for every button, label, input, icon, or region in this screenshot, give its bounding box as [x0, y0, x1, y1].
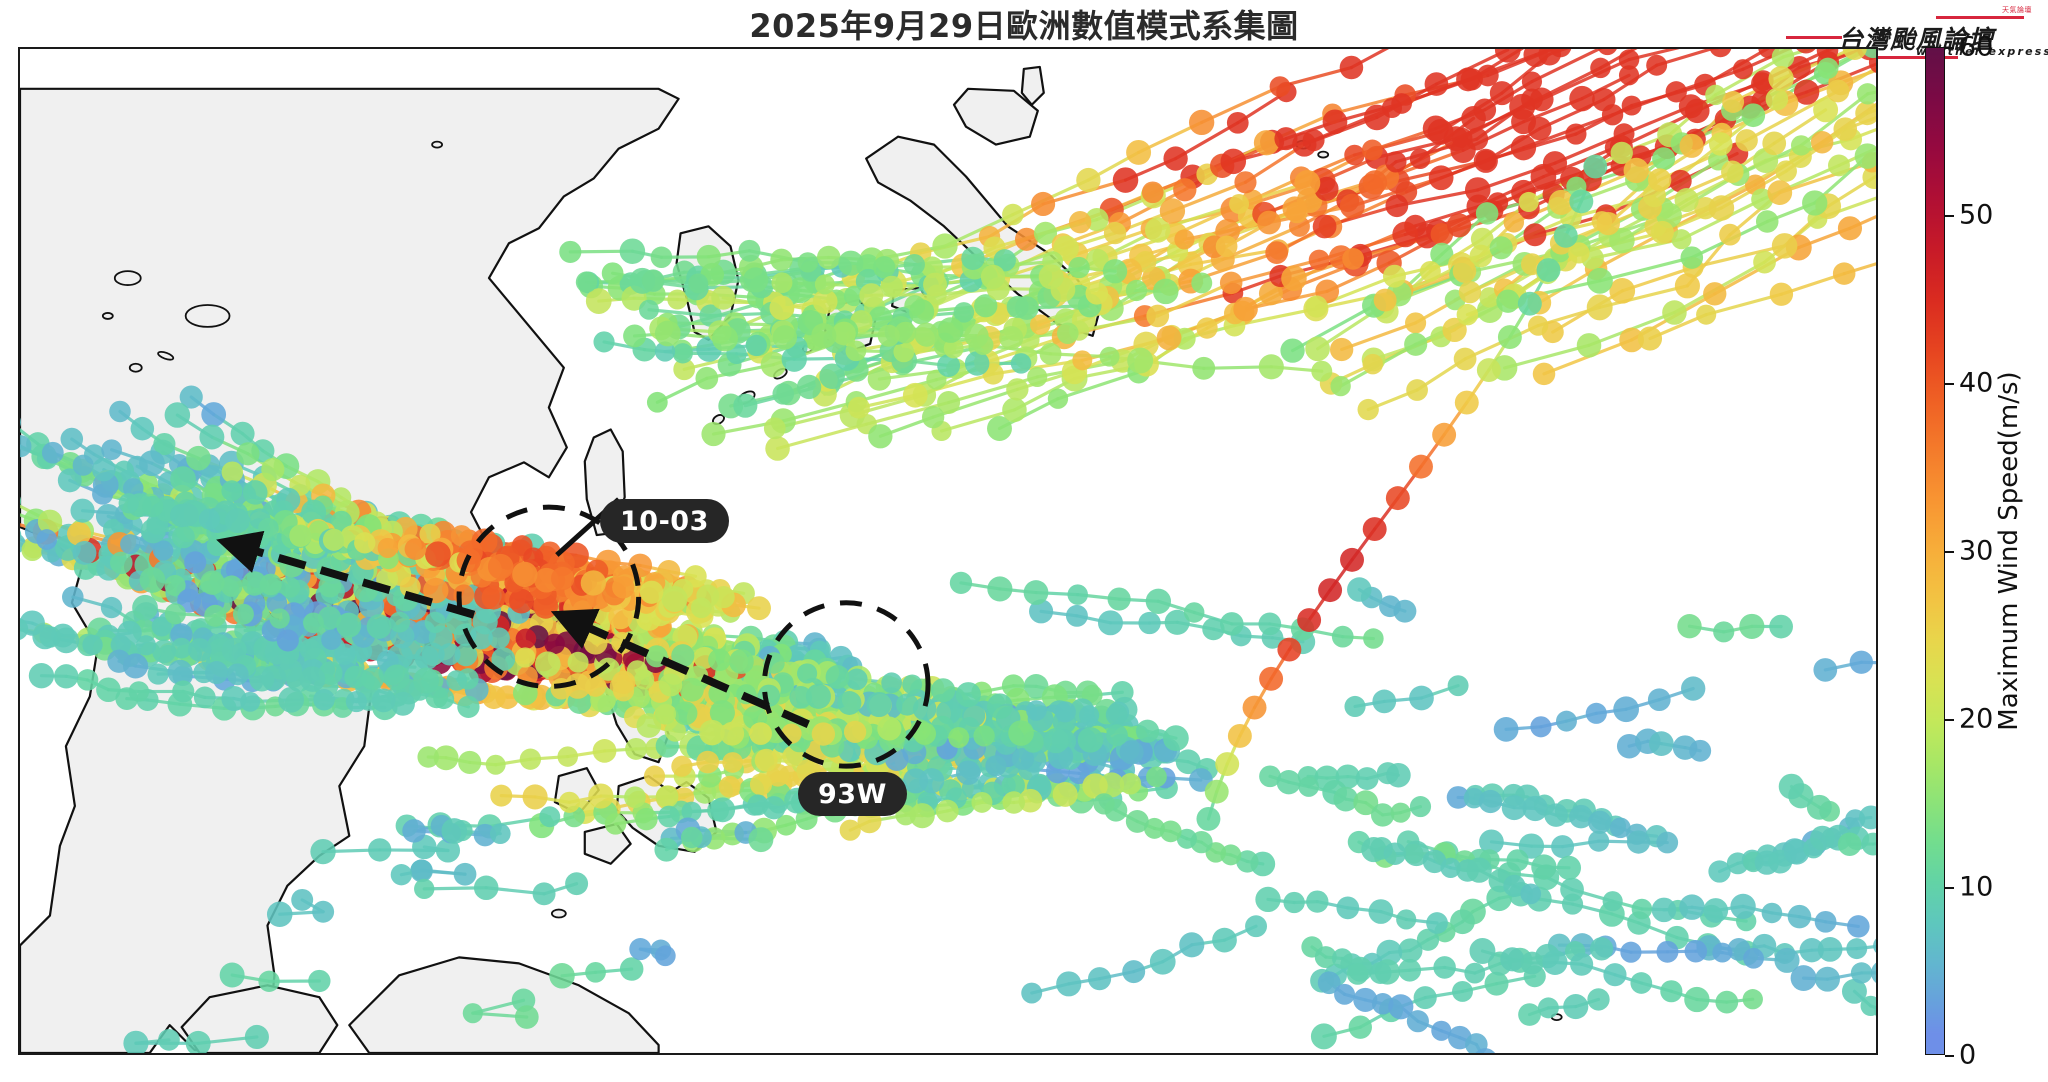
track-point [559, 792, 580, 813]
track-point [515, 647, 535, 667]
track-point [101, 439, 122, 460]
track-point [109, 401, 131, 423]
logo-tiny-text: 天氣論壇 [2002, 5, 2032, 15]
track-point [516, 628, 537, 649]
track-point [535, 651, 561, 676]
small-island [1318, 152, 1328, 158]
track-point [72, 541, 96, 565]
page-title: 2025年9月29日歐洲數值模式系集圖 [0, 6, 2048, 46]
track-point [61, 428, 84, 451]
track-point [62, 586, 84, 608]
track-point [186, 446, 211, 471]
track-point [101, 597, 122, 618]
track-point [656, 785, 679, 808]
track-point [170, 466, 196, 492]
track-point [593, 739, 617, 763]
track-point [42, 442, 64, 464]
track-point [458, 751, 481, 774]
track-point [231, 422, 255, 446]
small-island [432, 142, 442, 148]
track-point [222, 461, 244, 483]
track-point [201, 402, 226, 427]
track-point [750, 773, 772, 795]
small-island [552, 910, 566, 918]
screenshot-root: 2025年9月29日歐洲數值模式系集圖 天氣論壇 台灣颱風論壇 weather … [0, 0, 2048, 1082]
logo-accent-line-top [1936, 16, 2024, 19]
track-point [588, 783, 613, 808]
ensemble-track-map [20, 49, 1876, 1053]
track-point [719, 776, 741, 798]
track-point [568, 652, 589, 673]
track-point [644, 766, 665, 787]
logo-accent-line-left [1786, 36, 1842, 39]
track-point [110, 552, 133, 575]
track-point [486, 755, 506, 775]
small-island [186, 305, 230, 327]
track-point [490, 785, 512, 807]
track-point [92, 458, 116, 482]
track-point [557, 746, 578, 767]
track-point [236, 442, 259, 465]
track-point [624, 786, 646, 808]
small-island [130, 364, 142, 372]
track-point [261, 458, 284, 481]
track-point [199, 425, 224, 450]
small-island [115, 271, 141, 285]
track-point [36, 529, 57, 550]
track-point [523, 784, 548, 809]
track-point [417, 746, 439, 768]
track-point [139, 450, 165, 476]
track-point [131, 417, 155, 441]
track-point [165, 402, 191, 427]
track-point [73, 455, 94, 476]
track-point [520, 749, 541, 770]
track-point [544, 634, 565, 655]
track-point [625, 738, 647, 760]
map-plot-area[interactable]: 10-03 93W [18, 47, 1878, 1055]
small-island [103, 313, 113, 319]
